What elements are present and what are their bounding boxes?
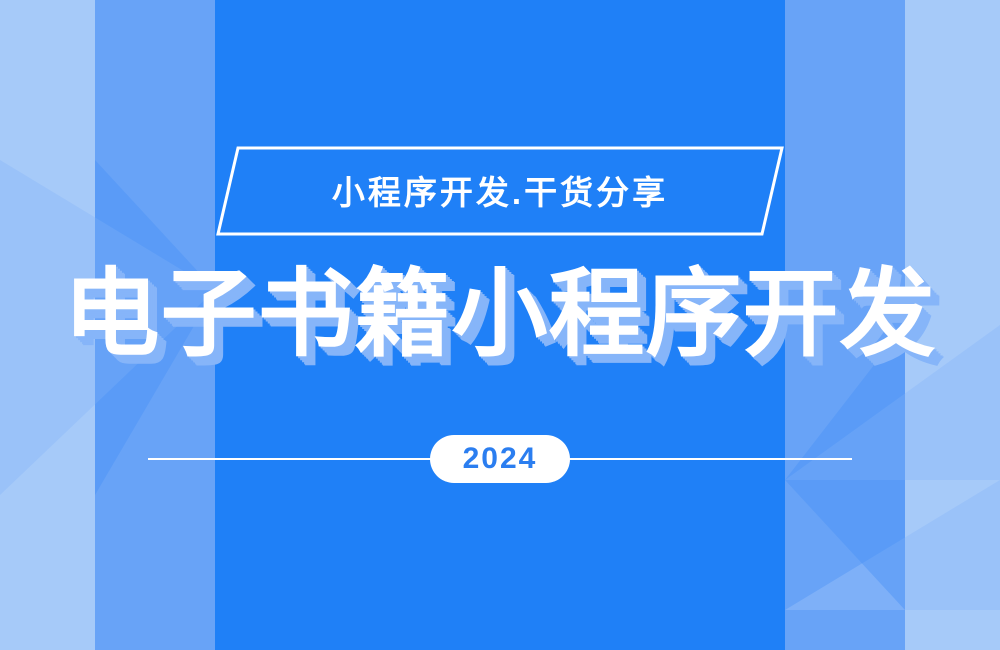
divider-line-left: [148, 458, 438, 460]
year-badge: 2024: [430, 435, 570, 483]
subtitle-text: 小程序开发.干货分享: [215, 145, 785, 237]
year-row: 2024: [0, 434, 1000, 484]
subtitle-ribbon: 小程序开发.干货分享: [215, 145, 785, 237]
headline-container: 电子书籍小程序开发: [0, 255, 1000, 375]
promo-banner: 小程序开发.干货分享 电子书籍小程序开发 2024: [0, 0, 1000, 650]
right-upper-wedge: [785, 480, 1000, 610]
page-title: 电子书籍小程序开发: [64, 267, 937, 363]
divider-line-right: [562, 458, 852, 460]
